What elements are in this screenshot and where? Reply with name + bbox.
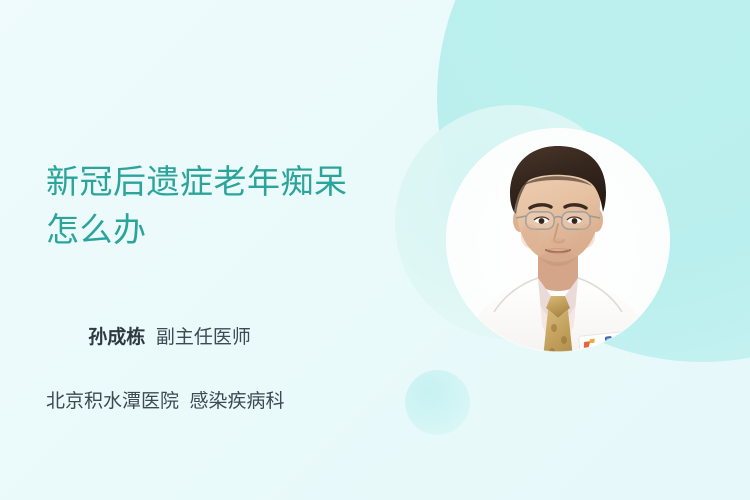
text-block: 新冠后遗症老年痴呆 怎么办 孙成栋 副主任医师 北京积水潭医院 感染疾病科 — [46, 158, 406, 418]
doctor-portrait — [446, 128, 670, 388]
doctor-affiliation: 北京积水潭医院 感染疾病科 — [46, 386, 406, 418]
byline: 孙成栋 副主任医师 北京积水潭医院 感染疾病科 — [46, 290, 406, 418]
doctor-name: 孙成栋 — [88, 327, 145, 348]
page-title: 新冠后遗症老年痴呆 怎么办 — [46, 158, 406, 254]
doctor-name-row: 孙成栋 副主任医师 — [46, 290, 406, 386]
hospital-badge-svg — [579, 332, 626, 366]
doctor-question-card: 新冠后遗症老年痴呆 怎么办 孙成栋 副主任医师 北京积水潭医院 感染疾病科 — [0, 0, 750, 500]
doctor-title: 副主任医师 — [156, 327, 251, 348]
name-title-separator — [145, 327, 156, 348]
